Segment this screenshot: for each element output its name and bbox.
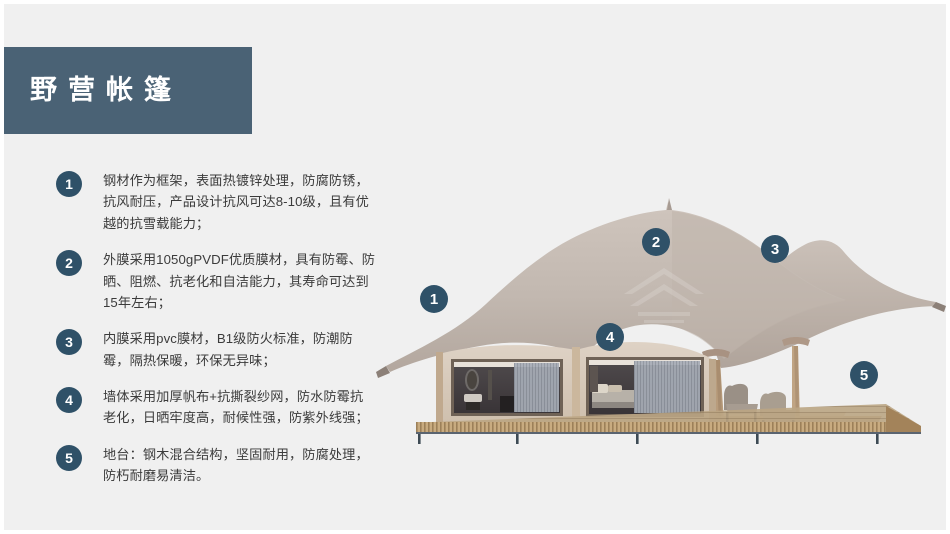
window-left <box>451 359 563 416</box>
feature-number-badge: 3 <box>56 329 82 355</box>
image-marker-5: 5 <box>850 361 878 389</box>
list-item: 5 地台：钢木混合结构，坚固耐用，防腐处理，防朽耐磨易清洁。 <box>56 444 376 487</box>
feature-description: 钢材作为框架，表面热镀锌处理，防腐防锈，抗风耐压，产品设计抗风可达8-10级，且… <box>103 170 376 234</box>
feature-number-badge: 5 <box>56 445 82 471</box>
image-marker-4: 4 <box>596 323 624 351</box>
feature-description: 地台：钢木混合结构，坚固耐用，防腐处理，防朽耐磨易清洁。 <box>103 444 376 487</box>
list-item: 4 墙体采用加厚帆布+抗撕裂纱网，防水防霉抗老化，日晒牢度高，耐候性强，防紫外线… <box>56 386 376 429</box>
image-marker-1: 1 <box>420 285 448 313</box>
image-marker-2: 2 <box>642 228 670 256</box>
title-block: 野营帐篷 <box>4 47 252 134</box>
feature-number-badge: 2 <box>56 250 82 276</box>
page-title: 野营帐篷 <box>30 77 182 104</box>
list-item: 3 内膜采用pvc膜材，B1级防火标准，防潮防霉，隔热保暖，环保无异味； <box>56 328 376 371</box>
deck-support-legs <box>418 434 879 444</box>
image-marker-3: 3 <box>761 235 789 263</box>
feature-number-badge: 1 <box>56 171 82 197</box>
feature-number-badge: 4 <box>56 387 82 413</box>
feature-list: 1 钢材作为框架，表面热镀锌处理，防腐防锈，抗风耐压，产品设计抗风可达8-10级… <box>56 170 376 487</box>
feature-description: 墙体采用加厚帆布+抗撕裂纱网，防水防霉抗老化，日晒牢度高，耐候性强，防紫外线强； <box>103 386 376 429</box>
list-item: 1 钢材作为框架，表面热镀锌处理，防腐防锈，抗风耐压，产品设计抗风可达8-10级… <box>56 170 376 234</box>
feature-description: 外膜采用1050gPVDF优质膜材，具有防霉、防晒、阻燃、抗老化和自洁能力，其寿… <box>103 249 376 313</box>
feature-description: 内膜采用pvc膜材，B1级防火标准，防潮防霉，隔热保暖，环保无异味； <box>103 328 376 371</box>
tent-illustration <box>376 154 946 444</box>
slide-root: 野营帐篷 1 钢材作为框架，表面热镀锌处理，防腐防锈，抗风耐压，产品设计抗风可达… <box>0 0 950 534</box>
window-right <box>586 357 704 417</box>
list-item: 2 外膜采用1050gPVDF优质膜材，具有防霉、防晒、阻燃、抗老化和自洁能力，… <box>56 249 376 313</box>
